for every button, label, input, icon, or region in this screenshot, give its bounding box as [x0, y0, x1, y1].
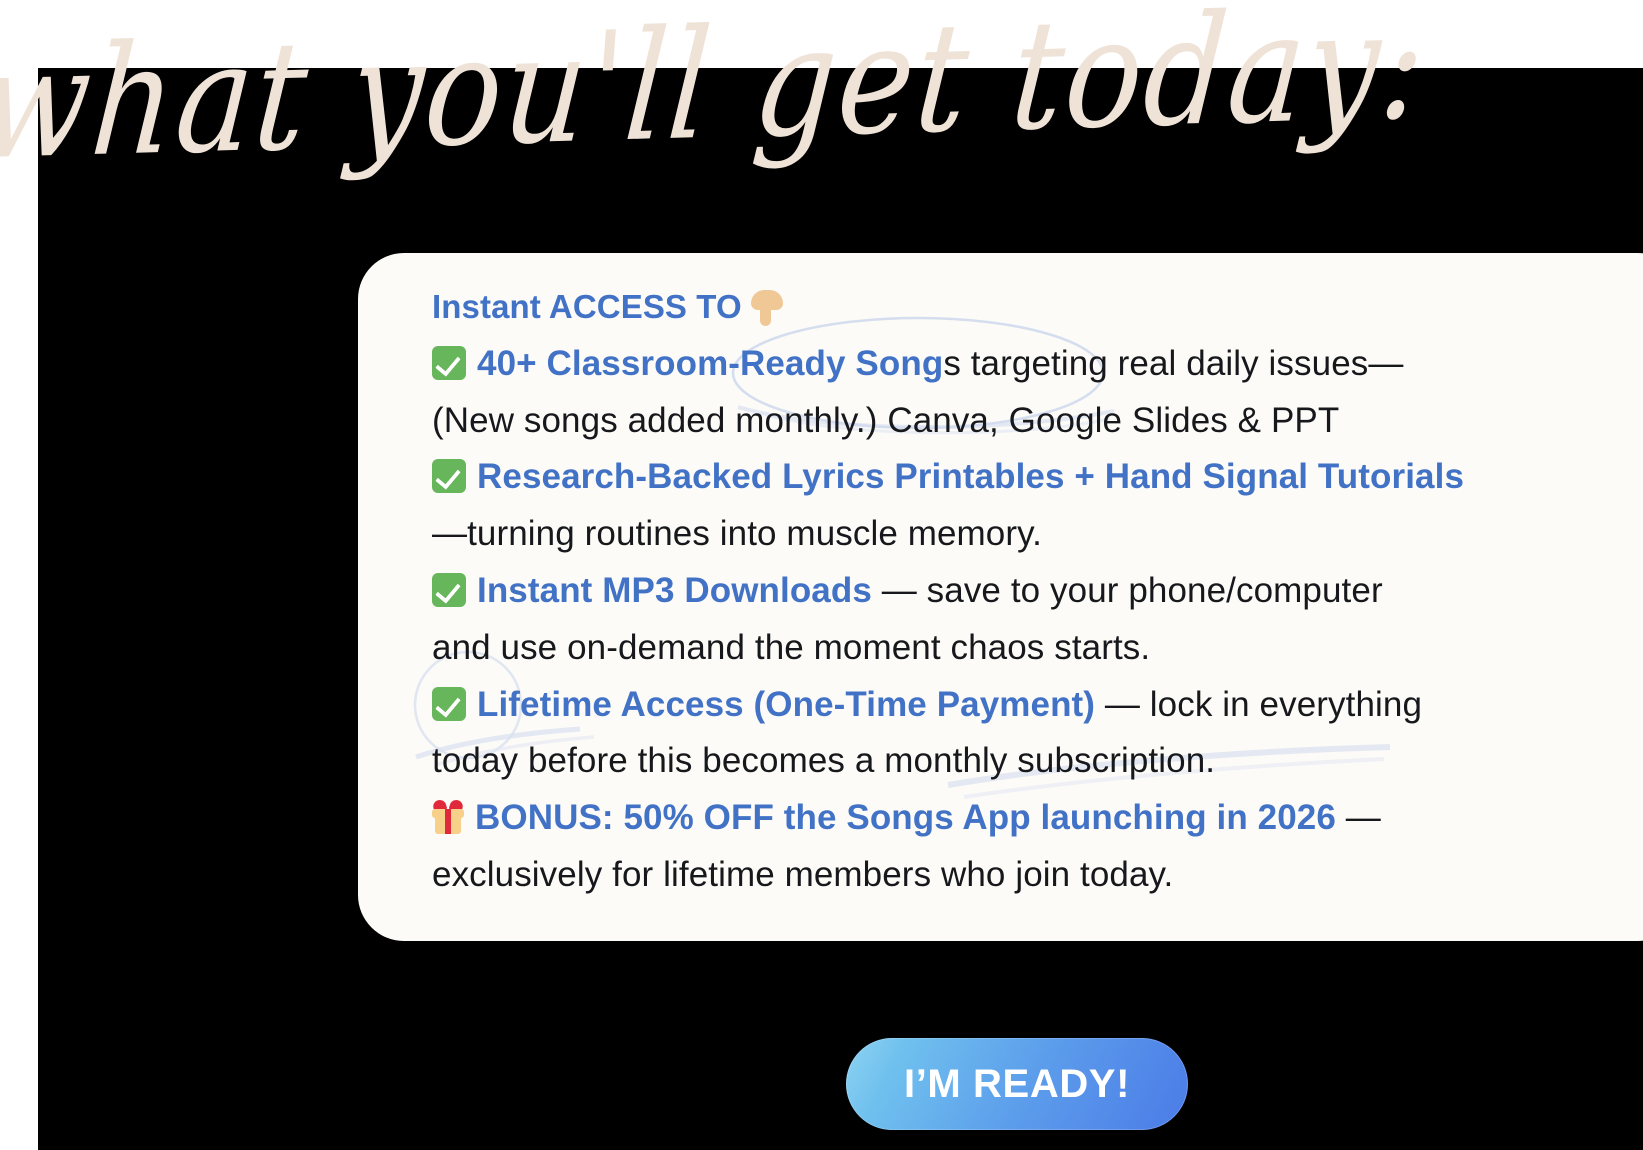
list-item-bold: BONUS: 50% OFF the Songs App launching i…: [475, 798, 1336, 837]
list-item: Instant MP3 Downloads — save to your pho…: [432, 563, 1643, 620]
list-item-bold: 40+ Classroom-Ready Song: [477, 344, 943, 383]
list-item-continuation: exclusively for lifetime members who joi…: [432, 847, 1643, 904]
offer-list: Instant ACCESS TO 40+ Classroom-Ready So…: [432, 279, 1643, 904]
list-item-rest: — save to your phone/computer: [872, 571, 1383, 610]
im-ready-cta-button[interactable]: I’M READY!: [846, 1038, 1188, 1130]
list-item: 40+ Classroom-Ready Songs targeting real…: [432, 336, 1643, 393]
offer-lead-label: Instant ACCESS TO: [432, 288, 742, 325]
list-item-bold: Lifetime Access (One-Time Payment): [477, 685, 1095, 724]
list-item-bold: Research-Backed Lyrics Printables + Hand…: [477, 457, 1464, 496]
wrapped-gift-icon: [432, 800, 464, 834]
white-check-mark-icon: [432, 687, 466, 721]
list-item-rest: —: [1336, 798, 1381, 837]
white-check-mark-icon: [432, 573, 466, 607]
list-item-rest: — lock in everything: [1095, 685, 1422, 724]
list-item: Research-Backed Lyrics Printables + Hand…: [432, 449, 1643, 506]
list-item-continuation: and use on-demand the moment chaos start…: [432, 620, 1643, 677]
backhand-index-pointing-down-icon: [751, 290, 783, 326]
white-check-mark-icon: [432, 459, 466, 493]
list-item-continuation: today before this becomes a monthly subs…: [432, 733, 1643, 790]
list-item: Lifetime Access (One-Time Payment) — loc…: [432, 677, 1643, 734]
offer-card: Instant ACCESS TO 40+ Classroom-Ready So…: [358, 253, 1643, 941]
list-item-bold: Instant MP3 Downloads: [477, 571, 872, 610]
list-item-rest: s targeting real daily issues—: [943, 344, 1403, 383]
list-item-continuation: —turning routines into muscle memory.: [432, 506, 1643, 563]
list-item: BONUS: 50% OFF the Songs App launching i…: [432, 790, 1643, 847]
white-check-mark-icon: [432, 346, 466, 380]
offer-lead-line: Instant ACCESS TO: [432, 279, 1643, 336]
list-item-continuation: (New songs added monthly.) Canva, Google…: [432, 393, 1643, 450]
